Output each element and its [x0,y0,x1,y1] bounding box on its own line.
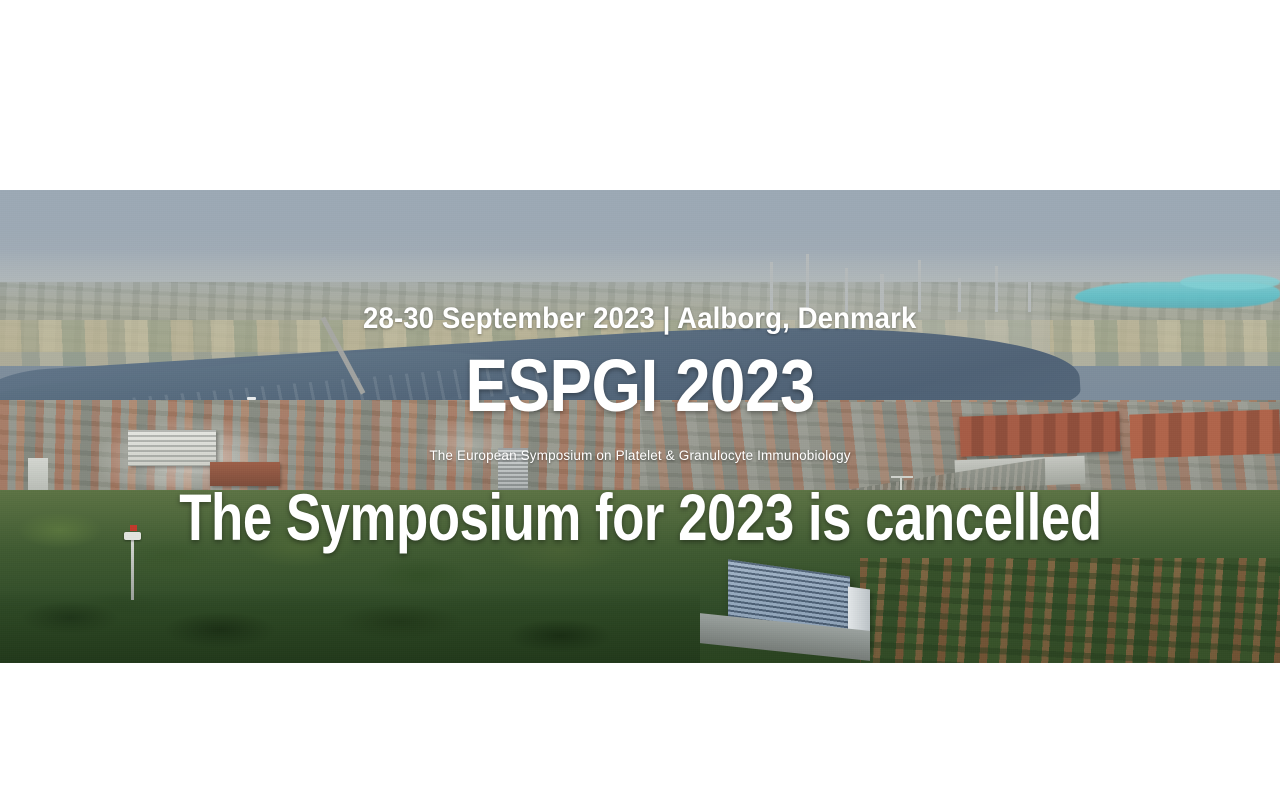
large-white-building [128,430,216,466]
forested-hillside [0,590,700,663]
smokestack [918,260,921,312]
flag-icon [130,525,137,531]
smokestack [1028,282,1031,312]
turquoise-lagoon-upper [1180,274,1280,290]
aalborg-tower-platform [124,532,141,540]
smokestack [958,278,961,312]
conference-hero-banner: 28-30 September 2023 | Aalborg, Denmark … [0,190,1280,663]
cancellation-notice: The Symposium for 2023 is cancelled [179,484,1101,550]
page-title: ESPGI 2023 [465,352,814,420]
suburban-houses [860,558,1280,663]
event-date-location: 28-30 September 2023 | Aalborg, Denmark [363,302,916,336]
warehouse-roof [959,411,1120,457]
smokestack [995,266,998,312]
warehouse-roof [1129,409,1280,458]
page-root: 28-30 September 2023 | Aalborg, Denmark … [0,0,1280,800]
event-full-name: The European Symposium on Platelet & Gra… [429,448,850,463]
aalborg-tower-mast [131,538,134,600]
